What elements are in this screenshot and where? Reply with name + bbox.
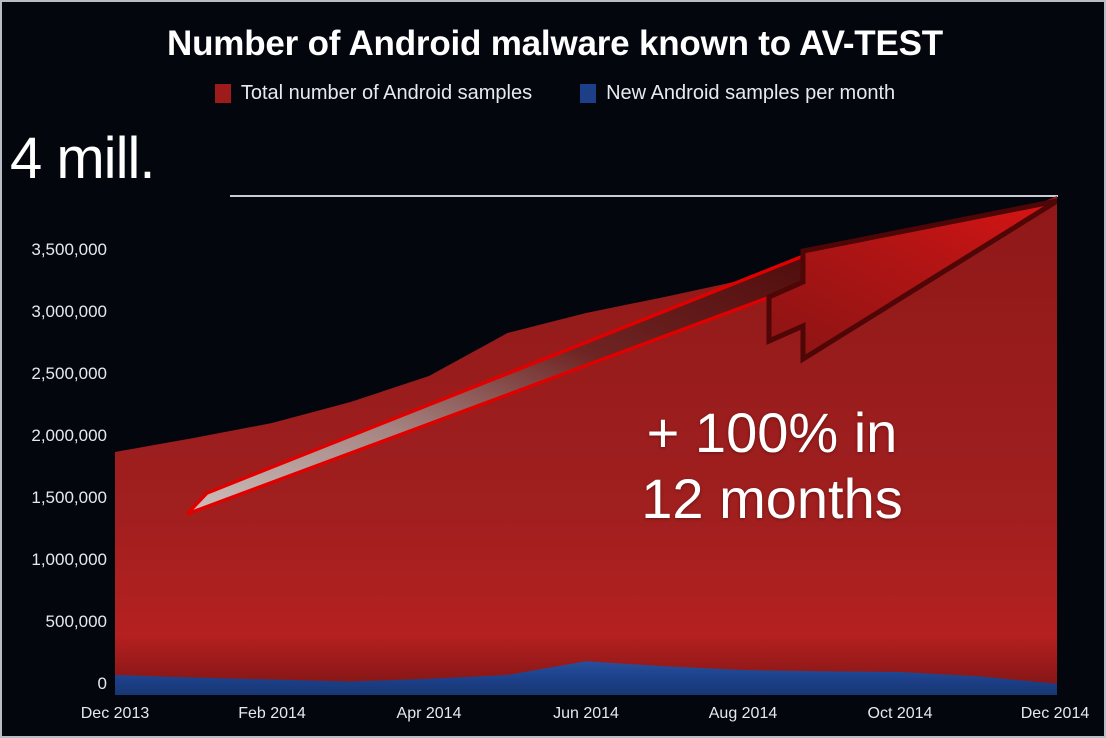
- growth-callout: + 100% in 12 months: [562, 400, 982, 532]
- y-tick-1500000: 1,500,000: [31, 488, 107, 508]
- legend-swatch-blue-icon: [580, 84, 596, 103]
- x-tick-dec-2013: Dec 2013: [81, 705, 150, 723]
- callout-line-1: + 100% in: [562, 400, 982, 466]
- chart-legend: Total number of Android samples New Andr…: [2, 82, 1106, 105]
- x-tick-jun-2014: Jun 2014: [553, 705, 619, 723]
- y-tick-2000000: 2,000,000: [31, 426, 107, 446]
- y-tick-1000000: 1,000,000: [31, 550, 107, 570]
- y-tick-500000: 500,000: [46, 612, 107, 632]
- legend-label-total: Total number of Android samples: [241, 82, 532, 105]
- x-tick-dec-2014: Dec 2014: [1021, 705, 1090, 723]
- y-tick-3000000: 3,000,000: [31, 302, 107, 322]
- chart-screenshot: Number of Android malware known to AV-TE…: [0, 0, 1106, 738]
- x-tick-aug-2014: Aug 2014: [709, 705, 778, 723]
- y-tick-2500000: 2,500,000: [31, 364, 107, 384]
- legend-item-new[interactable]: New Android samples per month: [580, 82, 895, 105]
- page-title: Number of Android malware known to AV-TE…: [2, 24, 1106, 64]
- legend-item-total[interactable]: Total number of Android samples: [215, 82, 532, 105]
- x-tick-oct-2014: Oct 2014: [868, 705, 933, 723]
- x-axis-labels: Dec 2013 Feb 2014 Apr 2014 Jun 2014 Aug …: [2, 705, 1106, 733]
- y-tick-0: 0: [98, 674, 107, 694]
- x-tick-feb-2014: Feb 2014: [238, 705, 306, 723]
- callout-line-2: 12 months: [562, 466, 982, 532]
- y-axis-labels: 3,500,000 3,000,000 2,500,000 2,000,000 …: [2, 2, 107, 738]
- y-tick-3500000: 3,500,000: [31, 240, 107, 260]
- legend-label-new: New Android samples per month: [606, 82, 895, 105]
- legend-swatch-red-icon: [215, 84, 231, 103]
- x-tick-apr-2014: Apr 2014: [397, 705, 462, 723]
